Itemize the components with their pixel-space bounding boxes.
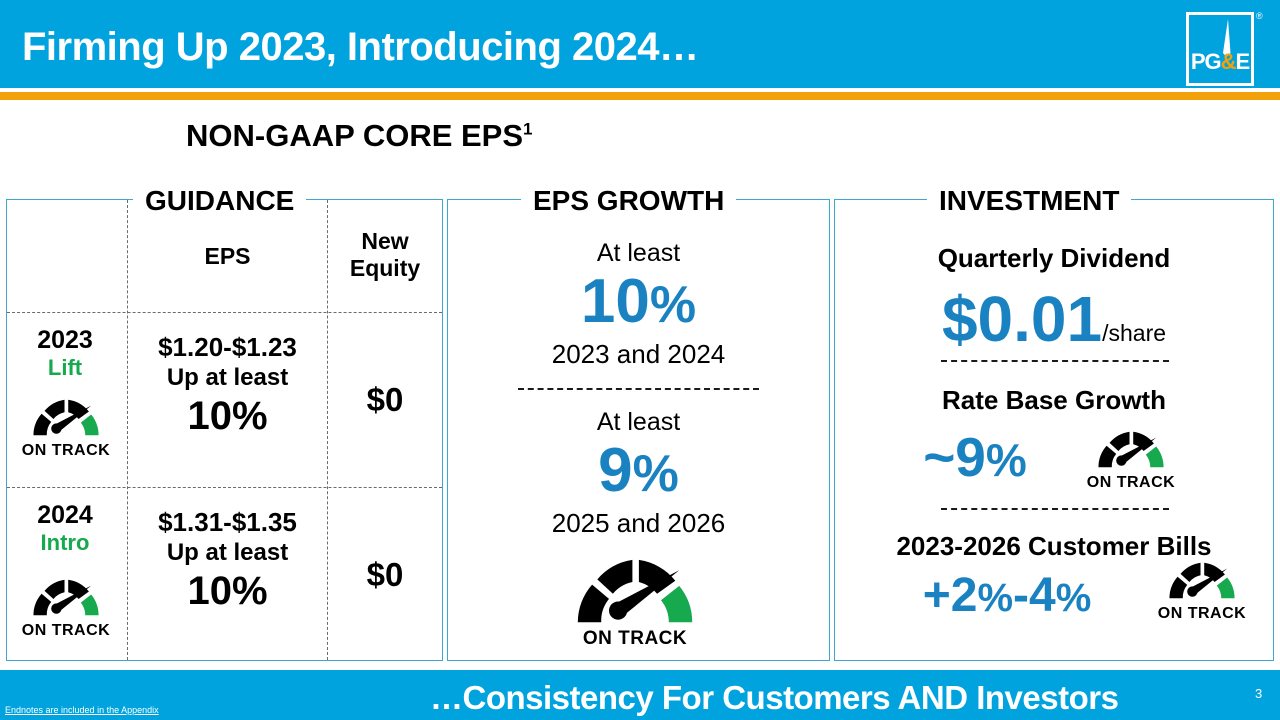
year-sublabel: Lift [5, 355, 125, 381]
status-gauge-rate-base: ON TRACK [1073, 427, 1189, 492]
eps-note: Up at least [128, 363, 327, 393]
logo-text-e: E [1236, 49, 1250, 74]
new-equity-value-2023: $0 [328, 381, 442, 419]
new-equity-value-2024: $0 [328, 556, 442, 594]
slide-subtitle-footnote: 1 [523, 120, 532, 139]
eps-growth-period: 2023 and 2024 [447, 338, 830, 370]
eps-growth-block-2: At least 9% 2025 and 2026 [447, 406, 830, 539]
status-gauge-2024: ON TRACK [8, 575, 124, 640]
pge-logo: PG&E [1186, 12, 1254, 86]
status-badge: ON TRACK [1073, 474, 1189, 492]
logo-text-pg: PG [1191, 49, 1221, 74]
gauge-icon [570, 552, 700, 625]
bills-unit-high: % [1056, 576, 1092, 620]
eps-growth-value: 10% [128, 568, 327, 614]
guidance-column-header-eps: EPS [128, 243, 327, 270]
eps-cell-2023: $1.20-$1.23 Up at least 10% [128, 331, 327, 439]
logo-ampersand: & [1221, 49, 1236, 74]
quarterly-dividend-heading: Quarterly Dividend [834, 242, 1274, 274]
gauge-icon [1094, 427, 1168, 469]
footer-endnote-link[interactable]: Endnotes are included in the Appendix [5, 705, 159, 715]
status-badge: ON TRACK [560, 630, 710, 648]
registered-trademark-mark: ® [1256, 12, 1263, 21]
eps-growth-block-1: At least 10% 2023 and 2024 [447, 237, 830, 370]
eps-growth-value: 9% [447, 438, 830, 507]
rate-base-growth-value: ~9% [880, 430, 1070, 485]
status-badge: ON TRACK [8, 442, 124, 460]
bills-value-low: +2 [923, 569, 978, 622]
status-badge: ON TRACK [1144, 605, 1260, 623]
eps-cell-2024: $1.31-$1.35 Up at least 10% [128, 506, 327, 614]
eps-growth-unit: % [650, 276, 696, 334]
eps-growth-panel-title: EPS GROWTH [521, 186, 736, 216]
eps-growth-unit: % [633, 445, 679, 503]
new-equity-line-1: New [328, 228, 442, 255]
eps-growth-lead: At least [447, 237, 830, 269]
eps-growth-value: 10% [447, 269, 830, 338]
investment-divider-1 [941, 360, 1169, 362]
status-gauge-customer-bills: ON TRACK [1144, 558, 1260, 623]
gauge-icon [1165, 558, 1239, 600]
status-badge: ON TRACK [8, 622, 124, 640]
quarterly-dividend-value: $0.01/share [834, 287, 1274, 351]
page-title: Firming Up 2023, Introducing 2024… [22, 25, 698, 70]
eps-growth-value: 10% [128, 393, 327, 439]
bills-unit-low: % [977, 576, 1013, 620]
guidance-panel-title: GUIDANCE [133, 186, 306, 216]
guidance-column-header-new-equity: New Equity [328, 228, 442, 282]
eps-note: Up at least [128, 538, 327, 568]
gauge-icon [29, 395, 103, 437]
guidance-row-divider-1 [7, 312, 442, 313]
new-equity-line-2: Equity [328, 255, 442, 282]
year-label: 2023 [5, 325, 125, 355]
guidance-row-divider-2 [7, 487, 442, 488]
eps-range: $1.20-$1.23 [128, 331, 327, 363]
rate-base-growth-heading: Rate Base Growth [834, 384, 1274, 416]
customer-bills-value: +2%-4% [872, 572, 1142, 620]
rate-base-number: ~9 [923, 426, 986, 488]
slide-subtitle-text: NON-GAAP CORE EPS [186, 118, 523, 153]
investment-divider-2 [941, 508, 1169, 510]
eps-growth-number: 10 [581, 267, 650, 336]
rate-base-unit: % [986, 434, 1027, 486]
eps-growth-number: 9 [598, 436, 632, 505]
year-label: 2024 [5, 500, 125, 530]
eps-growth-lead: At least [447, 406, 830, 438]
investment-panel-title: INVESTMENT [927, 186, 1131, 216]
bills-value-high: -4 [1013, 569, 1056, 622]
header-accent-rule [0, 92, 1280, 100]
status-gauge-2023: ON TRACK [8, 395, 124, 460]
eps-range: $1.31-$1.35 [128, 506, 327, 538]
page-number: 3 [1255, 686, 1262, 701]
gauge-icon [29, 575, 103, 617]
pge-wordmark: PG&E [1189, 51, 1251, 73]
table-row-year-2023: 2023 Lift [5, 325, 125, 381]
table-row-year-2024: 2024 Intro [5, 500, 125, 556]
status-gauge-eps-growth: ON TRACK [560, 552, 710, 648]
dividend-unit: /share [1102, 320, 1166, 346]
eps-growth-divider [518, 388, 759, 390]
eps-growth-period: 2025 and 2026 [447, 507, 830, 539]
year-sublabel: Intro [5, 530, 125, 556]
dividend-amount: $0.01 [942, 283, 1102, 355]
slide-subtitle: NON-GAAP CORE EPS1 [186, 118, 533, 154]
footer-tagline: …Consistency For Customers AND Investors [430, 679, 1118, 717]
